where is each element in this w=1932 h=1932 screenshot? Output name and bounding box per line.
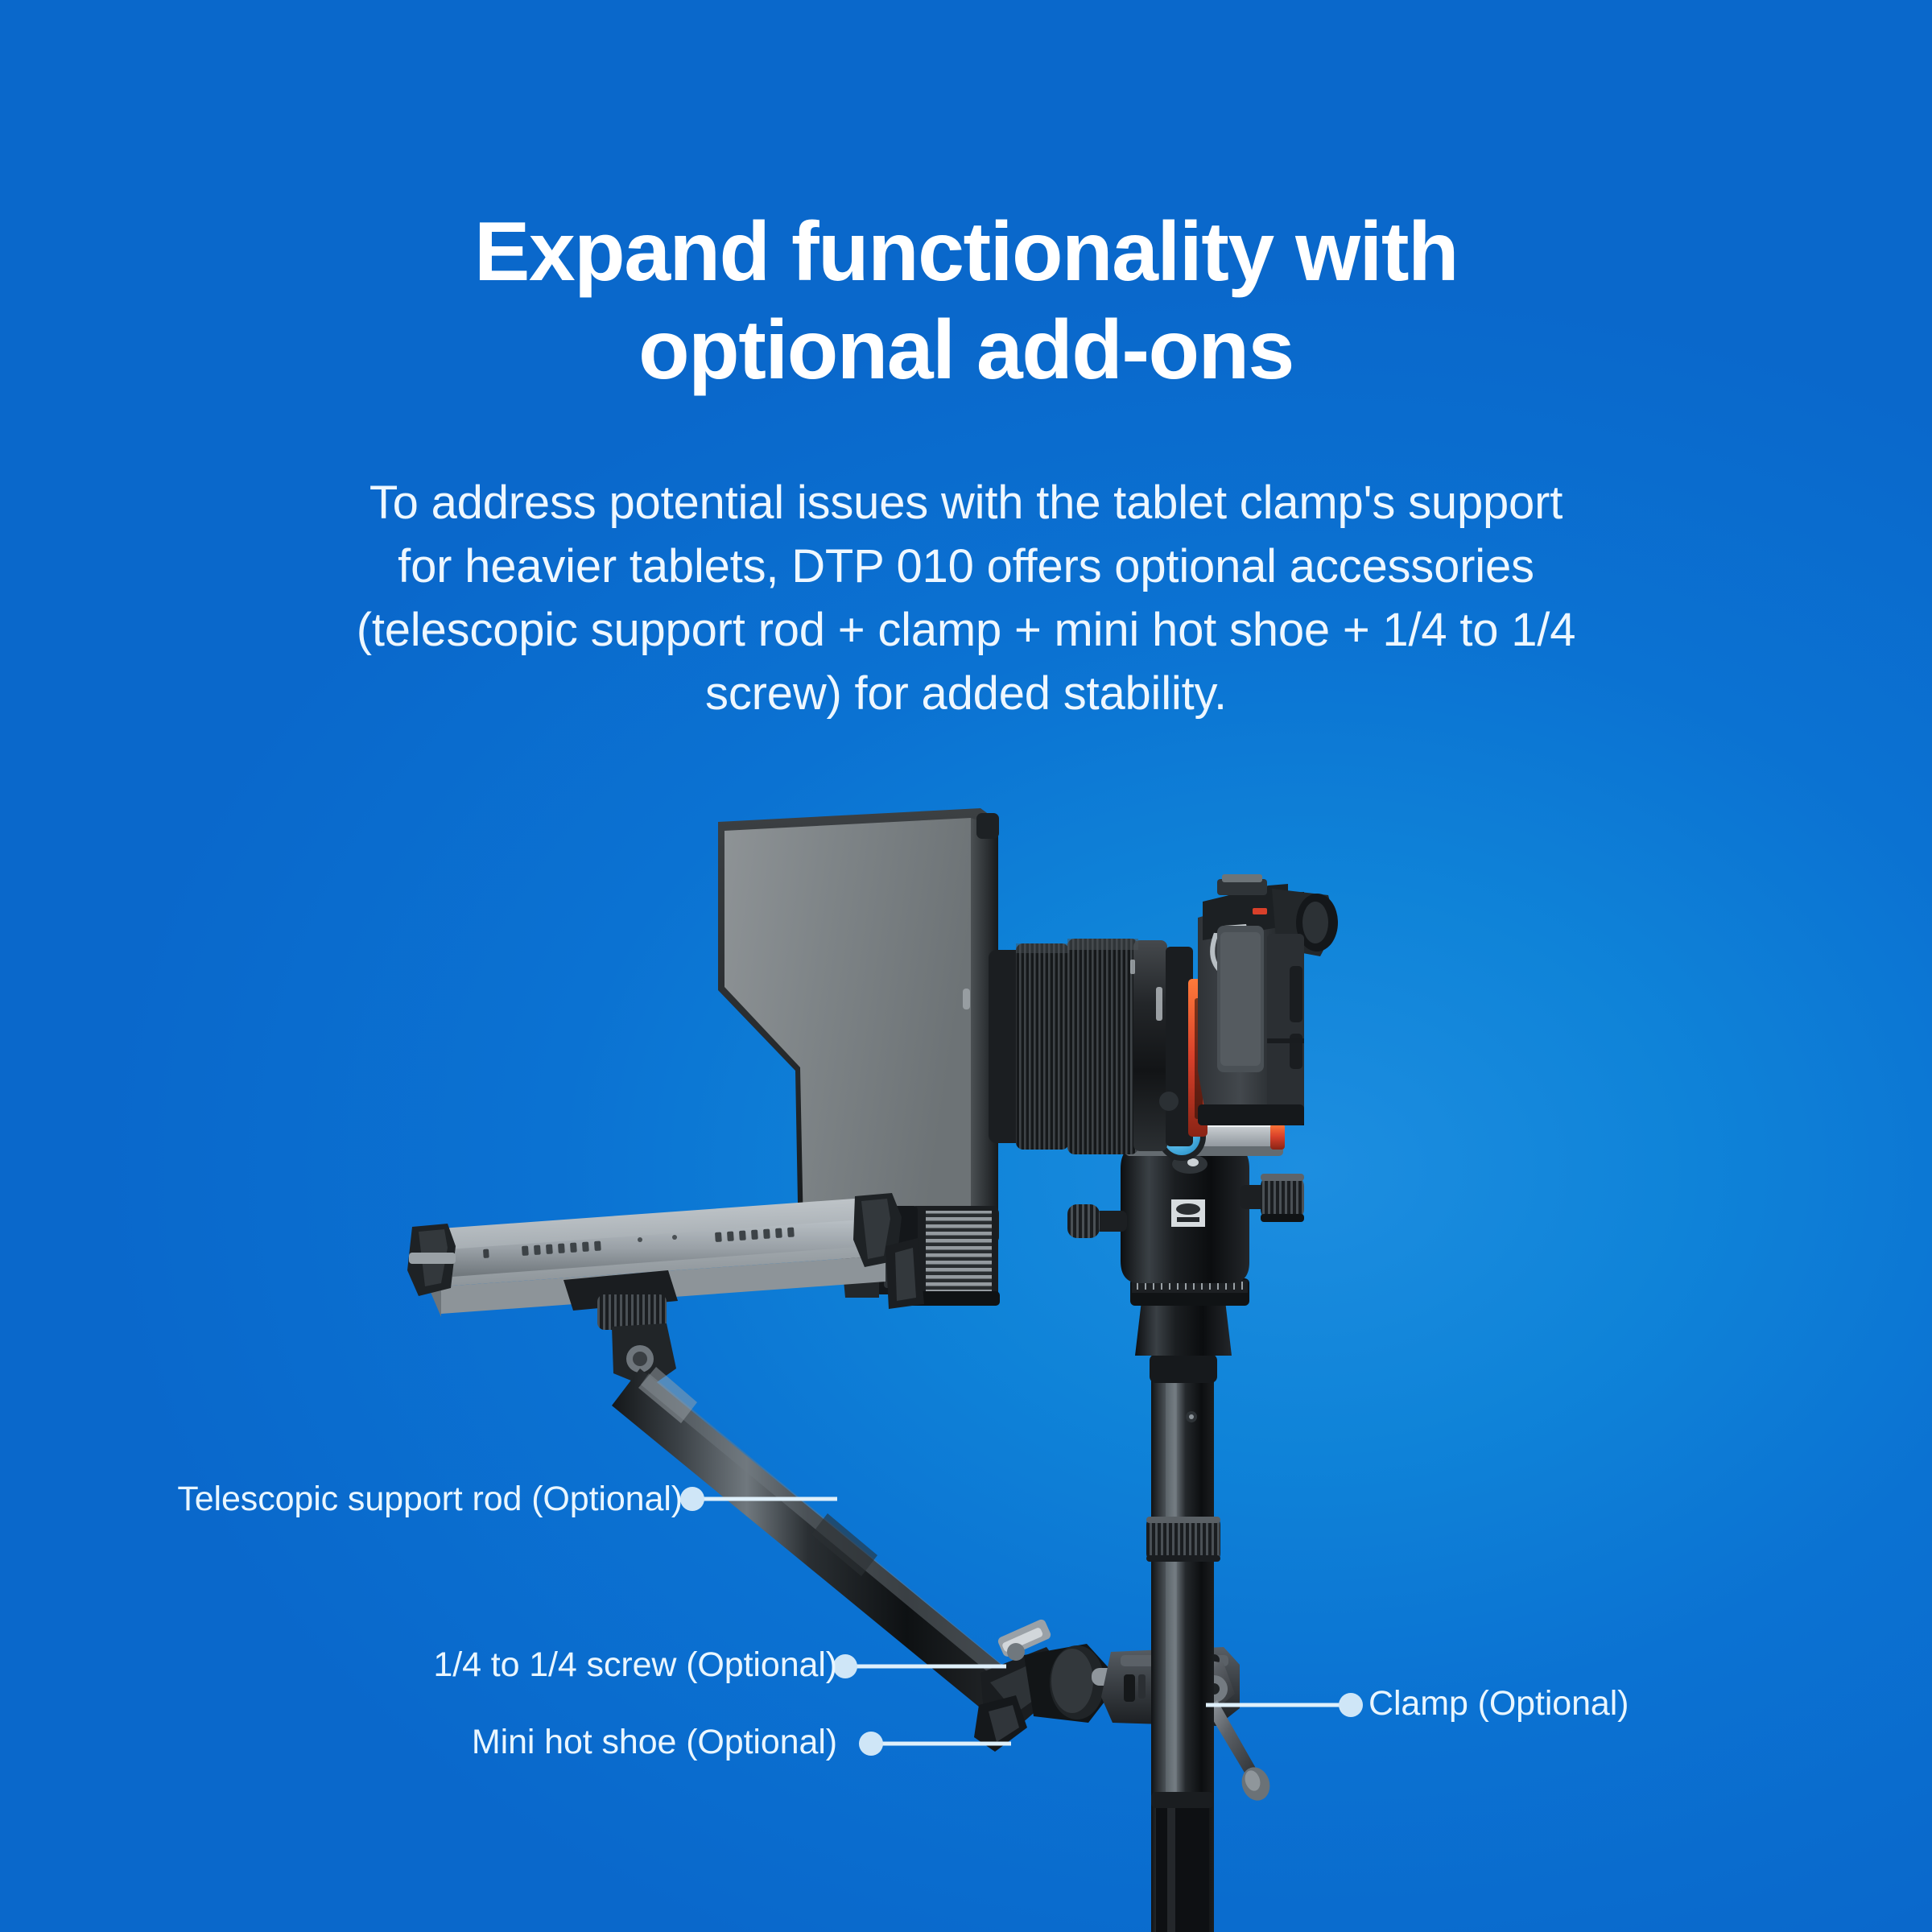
ballhead-secondary-knob (1067, 1204, 1127, 1238)
page-description: To address potential issues with the tab… (258, 472, 1674, 726)
callout-telescopic-support-rod: Telescopic support rod (Optional) (119, 1480, 683, 1519)
callout-mini-hot-shoe: Mini hot shoe (Optional) (451, 1723, 837, 1762)
center-column (1146, 1368, 1220, 1932)
ball-head (1067, 1146, 1304, 1383)
promo-slide: Expand functionality with optional add-o… (0, 0, 1932, 1932)
page-title: Expand functionality with optional add-o… (0, 203, 1932, 400)
headline-line-1: Expand functionality with (0, 203, 1932, 302)
hood-mount-arm (885, 1238, 924, 1309)
body-line-3: (telescopic support rod + clamp + mini h… (258, 599, 1674, 663)
body-line-2: for heavier tablets, DTP 010 offers opti… (258, 535, 1674, 599)
body-line-1: To address potential issues with the tab… (258, 472, 1674, 535)
callout-quarter-to-quarter-screw: 1/4 to 1/4 screw (Optional) (402, 1645, 837, 1685)
mirrorless-camera (1198, 874, 1338, 1125)
body-line-4: screw) for added stability. (258, 663, 1674, 726)
callout-clamp: Clamp (Optional) (1368, 1684, 1629, 1724)
headline-line-2: optional add-ons (0, 301, 1932, 400)
tray-pivot (563, 1270, 678, 1388)
zoom-lens (989, 939, 1207, 1154)
teleprompter-hood (718, 808, 999, 1246)
